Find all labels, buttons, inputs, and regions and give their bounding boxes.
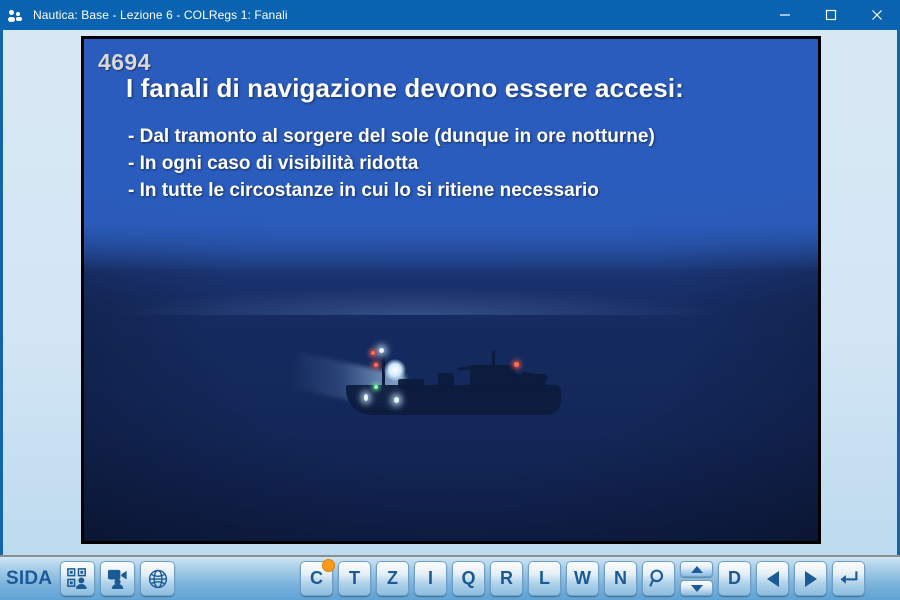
next-button[interactable]: [794, 561, 827, 596]
notification-badge: [322, 559, 335, 572]
letter-label: T: [349, 568, 360, 589]
letter-label: N: [614, 568, 627, 589]
letter-label: L: [539, 568, 550, 589]
button-letter-i[interactable]: I: [414, 561, 447, 596]
answer-item-2: - In ogni caso di visibilità ridotta: [128, 150, 655, 177]
button-letter-t[interactable]: T: [338, 561, 371, 596]
button-letter-d[interactable]: D: [718, 561, 751, 596]
globe-button[interactable]: [140, 561, 175, 596]
video-person-icon: [106, 567, 129, 590]
enter-button[interactable]: [832, 561, 865, 596]
question-number: 4694: [98, 49, 151, 76]
globe-icon: [147, 568, 169, 590]
arrow-down-icon: [691, 585, 703, 592]
answer-item-3: - In tutte le circostanze in cui lo si r…: [128, 177, 655, 204]
title-bar: Nautica: Base - Lezione 6 - COLRegs 1: F…: [0, 0, 900, 30]
window-title: Nautica: Base - Lezione 6 - COLRegs 1: F…: [33, 8, 288, 22]
arrow-up-icon: [691, 566, 703, 573]
video-person-button[interactable]: [100, 561, 135, 596]
letter-label: Z: [387, 568, 398, 589]
maximize-button[interactable]: [808, 0, 854, 30]
previous-button[interactable]: [756, 561, 789, 596]
minimize-button[interactable]: [762, 0, 808, 30]
button-letter-l[interactable]: L: [528, 561, 561, 596]
slide-frame: 4694 I fanali di navigazione devono esse…: [81, 36, 821, 544]
qr-person-icon: [66, 567, 89, 590]
spinner-control[interactable]: [680, 561, 713, 596]
search-icon: [648, 568, 669, 589]
spinner-up-button[interactable]: [680, 561, 713, 577]
button-letter-q[interactable]: Q: [452, 561, 485, 596]
bottom-toolbar: SIDA: [0, 555, 900, 600]
spinner-down-button[interactable]: [680, 580, 713, 596]
button-letter-w[interactable]: W: [566, 561, 599, 596]
application-window: Nautica: Base - Lezione 6 - COLRegs 1: F…: [0, 0, 900, 600]
button-letter-n[interactable]: N: [604, 561, 637, 596]
answer-list: - Dal tramonto al sorgere del sole (dunq…: [128, 123, 655, 204]
answer-item-1: - Dal tramonto al sorgere del sole (dunq…: [128, 123, 655, 150]
letter-label: I: [428, 568, 433, 589]
search-button[interactable]: [642, 561, 675, 596]
question-title: I fanali di navigazione devono essere ac…: [126, 73, 684, 104]
brand-logo: SIDA: [6, 568, 52, 590]
letter-label: Q: [461, 568, 475, 589]
enter-icon: [838, 568, 859, 589]
arrow-right-icon: [805, 571, 817, 587]
letter-label: C: [310, 568, 323, 589]
letter-label: W: [574, 568, 591, 589]
button-letter-r[interactable]: R: [490, 561, 523, 596]
qr-person-button[interactable]: [60, 561, 95, 596]
letter-label: D: [728, 568, 741, 589]
button-letter-z[interactable]: Z: [376, 561, 409, 596]
arrow-left-icon: [767, 571, 779, 587]
button-letter-c[interactable]: C: [300, 561, 333, 596]
letter-label: R: [500, 568, 513, 589]
users-icon: [9, 8, 25, 22]
question-slide: 4694 I fanali di navigazione devono esse…: [84, 39, 818, 541]
close-button[interactable]: [854, 0, 900, 30]
